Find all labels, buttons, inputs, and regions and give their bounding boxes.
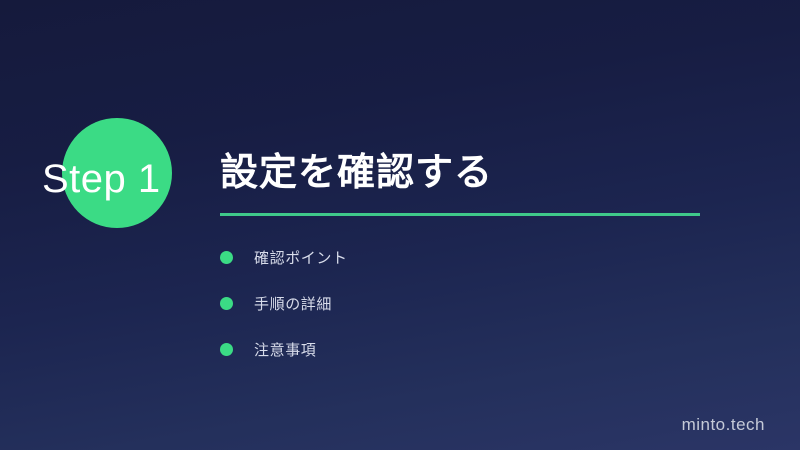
title-underline-rule [220,213,700,216]
list-item: 確認ポイント [220,234,700,280]
slide-canvas: Step 1 設定を確認する 確認ポイント 手順の詳細 注意事項 minto.t… [0,0,800,450]
bullet-list: 確認ポイント 手順の詳細 注意事項 [220,234,700,372]
bullet-item-label: 確認ポイント [254,247,348,268]
bullet-item-label: 手順の詳細 [254,293,332,314]
list-item: 手順の詳細 [220,280,700,326]
list-item: 注意事項 [220,326,700,372]
bullet-item-label: 注意事項 [254,339,316,360]
bullet-dot-icon [220,343,233,356]
bullet-dot-icon [220,297,233,310]
bullet-dot-icon [220,251,233,264]
footer-brand-label: minto.tech [682,415,765,435]
slide-title: 設定を確認する [220,148,493,198]
step-badge: Step 1 [62,118,172,228]
